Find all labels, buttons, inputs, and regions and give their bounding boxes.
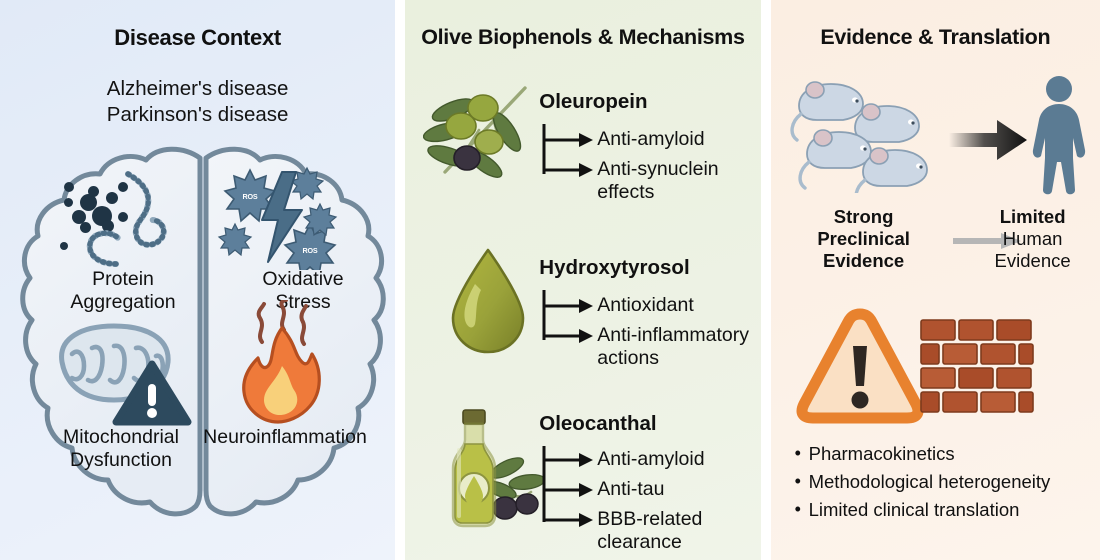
panel-olive-biophenols: Olive Biophenols & Mechanisms [405, 0, 760, 560]
effect-oleuropein-1: Anti-amyloid [597, 128, 704, 151]
flame-icon [234, 300, 330, 428]
branch-arrows-hydroxytyrosol [541, 288, 595, 348]
ros-badge-1: ROS [225, 170, 275, 222]
ros-lightning-icon: ROS ROS [214, 162, 344, 270]
human-silhouette-icon [1023, 74, 1095, 198]
bullet-dot-icon: • [795, 496, 809, 523]
effect-hydroxytyrosol-1: Antioxidant [597, 294, 693, 317]
warning-triangle-icon [795, 306, 925, 424]
oil-bottle-icon [431, 406, 543, 536]
disease-item-alzheimers: Alzheimer's disease [0, 76, 395, 102]
compound-name-oleocanthal: Oleocanthal [539, 412, 656, 436]
compound-name-oleuropein: Oleuropein [539, 90, 647, 114]
page-title-olive-biophenols: Olive Biophenols & Mechanisms [405, 25, 760, 50]
list-item: • Limited clinical translation [795, 496, 1095, 524]
infographic-board: Disease Context Alzheimer's disease Park… [0, 0, 1100, 560]
bullet-dot-icon: • [795, 440, 809, 467]
effect-oleocanthal-1: Anti-amyloid [597, 448, 704, 471]
effect-hydroxytyrosol-2: Anti-inflammatory actions [597, 324, 760, 369]
branch-arrows-oleocanthal [541, 444, 595, 534]
disease-item-parkinsons: Parkinson's disease [0, 102, 395, 128]
arrow-right-icon [949, 118, 1027, 162]
bullet-dot-icon: • [795, 468, 809, 495]
brain-diagram: Protein Aggregation [18, 140, 388, 545]
barrier-label-1: Pharmacokinetics [809, 440, 955, 468]
barrier-label-3: Limited clinical translation [809, 496, 1020, 524]
panel-disease-context: Disease Context Alzheimer's disease Park… [0, 0, 395, 560]
compound-name-hydroxytyrosol: Hydroxytyrosol [539, 256, 689, 280]
brain-label-neuroinflammation: Neuroinflammation [100, 426, 395, 449]
list-item: • Methodological heterogeneity [795, 468, 1095, 496]
brick-wall-icon [919, 318, 1037, 418]
effect-oleocanthal-3: BBB-related clearance [597, 508, 747, 553]
branch-arrows-oleuropein [541, 122, 595, 182]
barrier-list: • Pharmacokinetics • Methodological hete… [795, 440, 1095, 523]
mice-group [785, 78, 945, 193]
page-title-evidence-translation: Evidence & Translation [771, 25, 1100, 50]
barrier-label-2: Methodological heterogeneity [809, 468, 1051, 496]
panel-divider-2 [761, 0, 771, 560]
mitochondria-warning-icon [42, 318, 192, 428]
limited-human-evidence-label: Limited Human Evidence [967, 206, 1099, 273]
strong-preclinical-evidence-label: Strong Preclinical Evidence [777, 206, 951, 273]
panel-divider-1 [395, 0, 405, 560]
list-item: • Pharmacokinetics [795, 440, 1095, 468]
protein-aggregate-icon [56, 168, 186, 268]
panel-evidence-translation: Evidence & Translation [771, 0, 1100, 560]
disease-list: Alzheimer's disease Parkinson's disease [0, 76, 395, 128]
effect-oleocanthal-2: Anti-tau [597, 478, 664, 501]
olive-branch-icon [423, 80, 533, 190]
page-title-disease-context: Disease Context [0, 25, 395, 51]
effect-oleuropein-2: Anti-synuclein effects [597, 158, 755, 203]
oil-droplet-icon [445, 246, 531, 356]
